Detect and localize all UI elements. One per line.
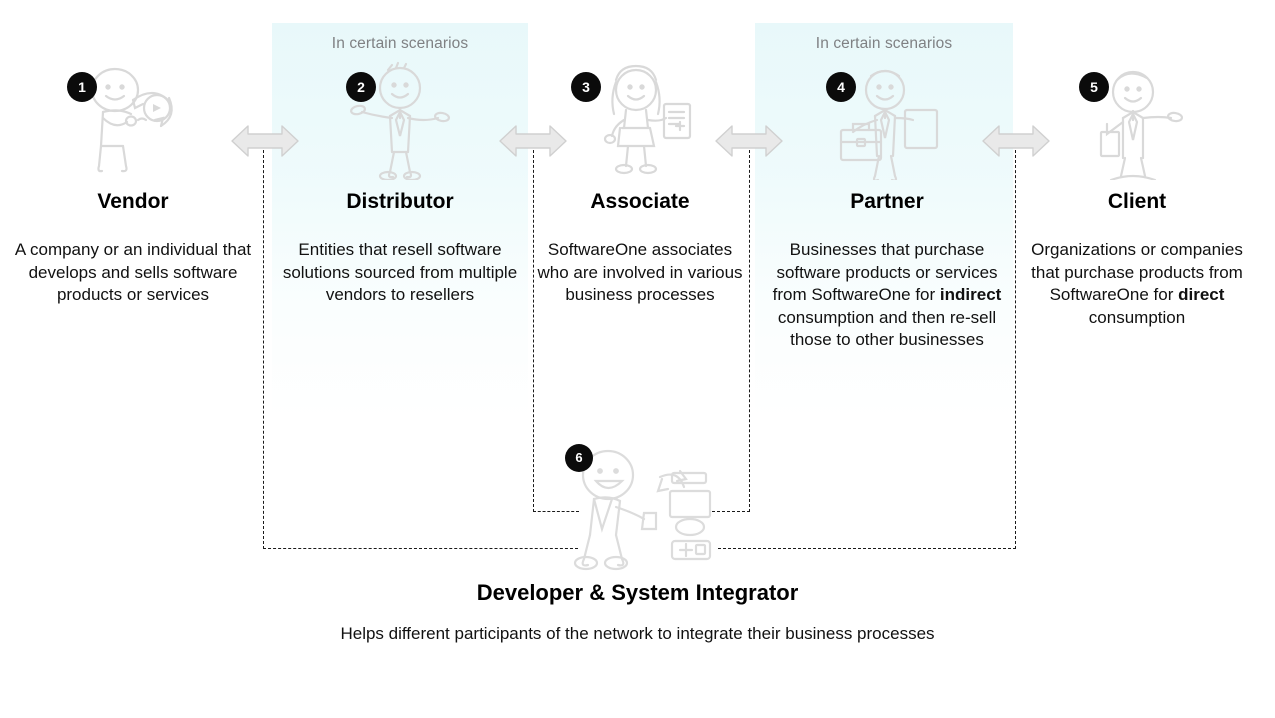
column-title-partner: Partner: [752, 190, 1022, 213]
dashed-line-outer-bottom-left: [263, 548, 578, 549]
column-title-distributor: Distributor: [265, 190, 535, 213]
emphasis-text: indirect: [940, 285, 1001, 304]
integrator-title: Developer & System Integrator: [0, 580, 1275, 606]
column-desc-client: Organizations or companies that purchase…: [1025, 239, 1250, 329]
arrow-vendor-distributor: [230, 123, 300, 159]
column-title-vendor: Vendor: [0, 190, 268, 213]
badge-number-5: 5: [1079, 72, 1109, 102]
badge-number-2: 2: [346, 72, 376, 102]
emphasis-text: direct: [1178, 285, 1224, 304]
scenario-label-partner: In certain scenarios: [755, 35, 1013, 53]
column-desc-associate: SoftwareOne associates who are involved …: [533, 239, 748, 307]
figure-slot-distributor: 2: [265, 60, 535, 190]
column-title-associate: Associate: [505, 190, 775, 213]
figure-slot-vendor: 1: [0, 60, 268, 190]
column-associate: 3: [505, 60, 775, 307]
column-desc-distributor: Entities that resell software solutions …: [274, 239, 526, 307]
body-text: consumption: [1089, 308, 1185, 327]
badge-number-6: 6: [565, 444, 593, 472]
column-client: 5: [1002, 60, 1272, 329]
body-text: Entities that resell software solutions …: [283, 240, 517, 304]
integrator-description: Helps different participants of the netw…: [0, 624, 1275, 644]
column-distributor: 2: [265, 60, 535, 307]
dashed-line-outer-bottom-right: [718, 548, 1016, 549]
badge-number-3: 3: [571, 72, 601, 102]
column-vendor: 1: [0, 60, 268, 307]
body-text: SoftwareOne associates who are involved …: [537, 240, 742, 304]
arrow-associate-partner: [714, 123, 784, 159]
scenario-label-distributor: In certain scenarios: [272, 35, 528, 53]
body-text: consumption and then re-sell those to ot…: [778, 308, 996, 350]
column-title-client: Client: [1002, 190, 1272, 213]
badge-number-4: 4: [826, 72, 856, 102]
body-text: A company or an individual that develops…: [15, 240, 251, 304]
arrow-distributor-associate: [498, 123, 568, 159]
badge-number-1: 1: [67, 72, 97, 102]
arrow-partner-client: [981, 123, 1051, 159]
column-desc-vendor: A company or an individual that develops…: [7, 239, 259, 307]
diagram-canvas: In certain scenarios In certain scenario…: [0, 0, 1275, 718]
column-desc-partner: Businesses that purchase software produc…: [767, 239, 1007, 352]
column-partner: 4: [752, 60, 1022, 352]
